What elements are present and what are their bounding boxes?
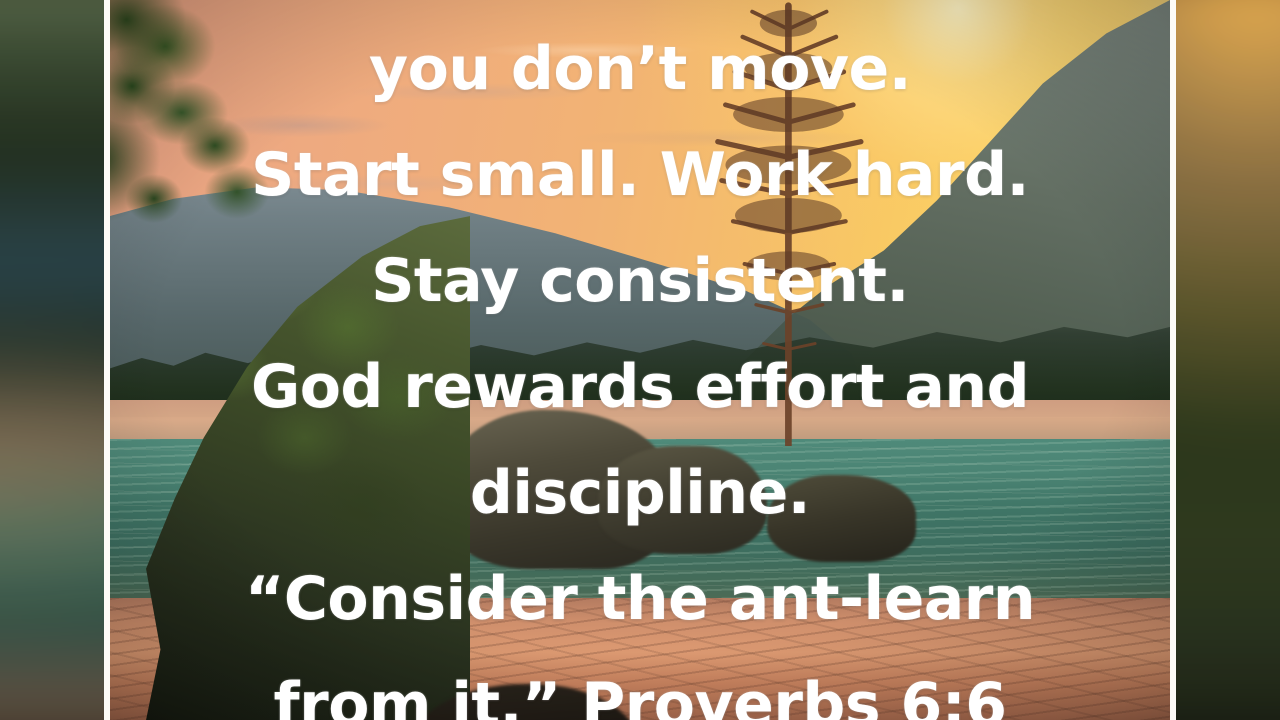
video-frame: you don’t move. Start small. Work hard. … xyxy=(0,0,1280,720)
frame-border-right xyxy=(1170,0,1176,720)
photo-vignette xyxy=(110,0,1170,720)
frame-border-left xyxy=(104,0,110,720)
landscape-photo xyxy=(110,0,1170,720)
